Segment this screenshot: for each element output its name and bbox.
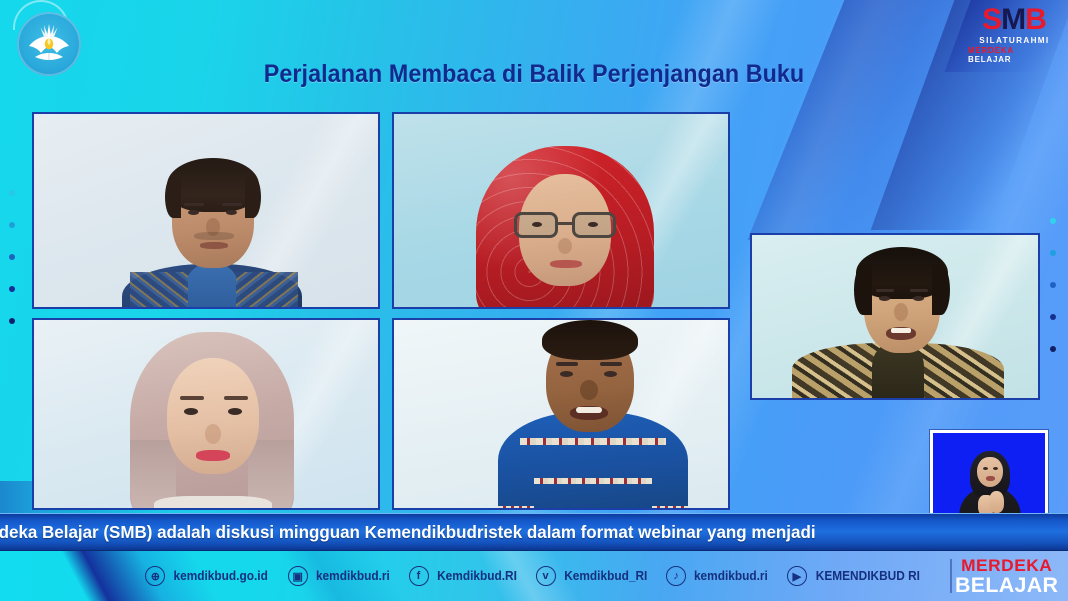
tile-speaker-2-video	[394, 114, 728, 307]
youtube-icon: ▶	[787, 566, 807, 586]
smb-subtitle-line1: SILATURAHMI	[979, 36, 1049, 45]
merdeka-belajar-line2: BELAJAR	[955, 575, 1058, 596]
ticker-text: deka Belajar (SMB) adalah diskusi minggu…	[0, 522, 816, 543]
social-handle-label: kemdikbud.go.id	[174, 569, 268, 583]
tile-speaker-4-video	[394, 320, 728, 508]
social-item-instagram[interactable]: ▣kemdikbud.ri	[288, 566, 392, 586]
social-item-youtube[interactable]: ▶KEMENDIKBUD RI	[787, 566, 923, 586]
decorative-dots-right	[1050, 218, 1056, 352]
merdeka-belajar-line1: MERDEKA	[961, 557, 1052, 574]
merdeka-belajar-logo: MERDEKA BELAJAR	[952, 553, 1062, 599]
twitter-icon: ᴠ	[536, 566, 556, 586]
social-handle-label: KEMENDIKBUD RI	[816, 569, 920, 583]
social-handle-label: kemdikbud.ri	[694, 569, 768, 583]
tile-speaker-1[interactable]	[32, 112, 380, 309]
smb-subtitle-line2: MERDEKA BELAJAR	[968, 46, 1060, 64]
tile-speaker-4[interactable]	[392, 318, 730, 510]
broadcast-stage: Perjalanan Membaca di Balik Perjenjangan…	[0, 0, 1068, 601]
smb-subtitle-merdeka: MERDEKA	[968, 46, 1014, 55]
social-item-facebook[interactable]: fKemdikbud.RI	[409, 566, 519, 586]
tile-speaker-2[interactable]	[392, 112, 730, 309]
instagram-icon: ▣	[288, 566, 308, 586]
decorative-dots-left	[9, 190, 15, 324]
tile-speaker-3-video	[34, 320, 378, 508]
smb-letter-b: B	[1025, 3, 1046, 36]
news-ticker: deka Belajar (SMB) adalah diskusi minggu…	[0, 513, 1068, 551]
tile-speaker-3[interactable]	[32, 318, 380, 510]
smb-logo: SMB SILATURAHMI MERDEKA BELAJAR	[968, 4, 1060, 66]
page-title: Perjalanan Membaca di Balik Perjenjangan…	[37, 60, 1030, 89]
smb-wordmark: SMB	[982, 6, 1046, 35]
social-item-tiktok[interactable]: ♪kemdikbud.ri	[666, 566, 770, 586]
social-item-globe[interactable]: ⊕kemdikbud.go.id	[145, 566, 270, 586]
smb-subtitle-belajar: BELAJAR	[968, 55, 1011, 64]
social-handle-label: Kemdikbud_RI	[564, 569, 647, 583]
facebook-icon: f	[409, 566, 429, 586]
tile-speaker-5-video	[752, 235, 1038, 398]
social-media-bar: ⊕kemdikbud.go.id▣kemdikbud.rifKemdikbud.…	[0, 551, 1068, 601]
social-handle-label: Kemdikbud.RI	[437, 569, 517, 583]
tile-speaker-5[interactable]	[750, 233, 1040, 400]
smb-letter-m: M	[1001, 3, 1025, 36]
tile-speaker-1-video	[34, 114, 378, 307]
social-handle-label: kemdikbud.ri	[316, 569, 390, 583]
globe-icon: ⊕	[145, 566, 165, 586]
tiktok-icon: ♪	[666, 566, 686, 586]
social-handle-list: ⊕kemdikbud.go.id▣kemdikbud.rifKemdikbud.…	[0, 551, 1068, 601]
social-item-twitter[interactable]: ᴠKemdikbud_RI	[536, 566, 650, 586]
smb-letter-s: S	[982, 3, 1001, 36]
